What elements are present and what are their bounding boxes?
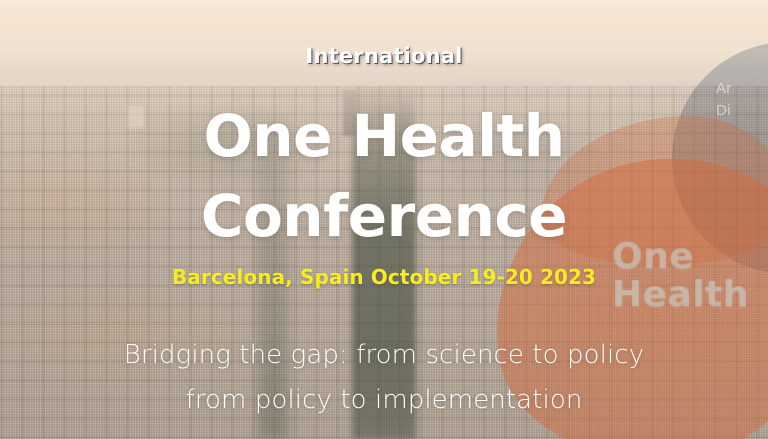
- conference-banner: One Health Ar Di International One Healt…: [0, 0, 768, 439]
- banner-date-location: Barcelona, Spain October 19-20 2023: [0, 265, 768, 289]
- banner-title-line-1: One Health: [0, 96, 768, 176]
- banner-tagline: Bridging the gap: from science to policy…: [0, 333, 768, 422]
- banner-title-line-2: Conference: [0, 176, 768, 256]
- banner-title: One Health Conference: [0, 96, 768, 256]
- banner-eyebrow: International: [0, 44, 768, 68]
- banner-tagline-line-1: Bridging the gap: from science to policy: [0, 333, 768, 378]
- banner-tagline-line-2: from policy to implementation: [0, 378, 768, 423]
- banner-content: International One Health Conference Barc…: [0, 0, 768, 439]
